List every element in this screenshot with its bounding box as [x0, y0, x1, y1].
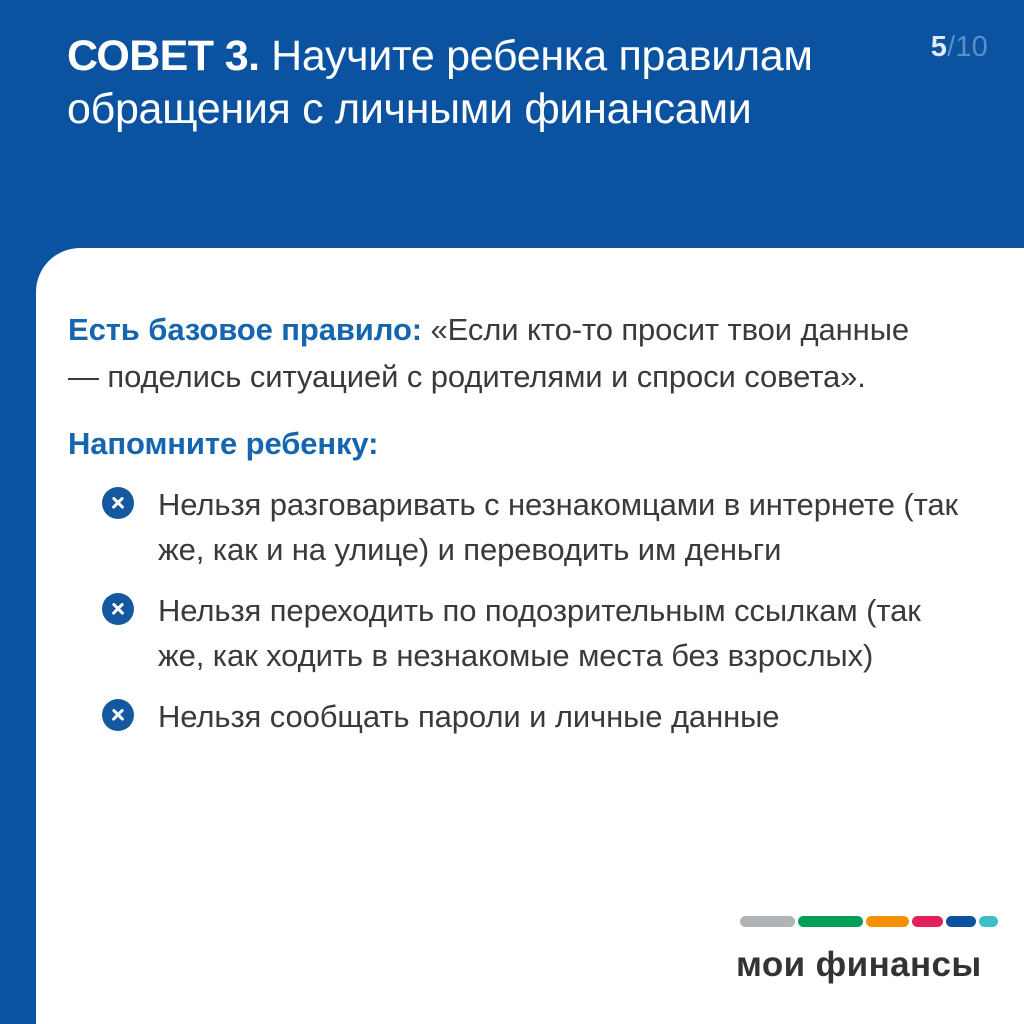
- page-title: СОВЕТ 3. Научите ребенка правилам обраще…: [67, 30, 897, 136]
- list-item-label: Нельзя переходить по подозрительным ссыл…: [158, 588, 968, 678]
- lead-paragraph: Есть базовое правило: «Если кто-то проси…: [68, 306, 948, 400]
- close-circle-icon: [102, 487, 134, 519]
- close-circle-icon: [102, 593, 134, 625]
- brand-logo-color-bar: [736, 916, 998, 927]
- reminder-list: Нельзя разговаривать с незнакомцами в ин…: [68, 482, 972, 739]
- logo-bar-segment-6: [979, 916, 998, 927]
- logo-bar-segment-5: [946, 916, 976, 927]
- page-counter: 5/10: [931, 33, 988, 62]
- slide-header: 5/10 СОВЕТ 3. Научите ребенка правилам о…: [0, 0, 1024, 248]
- content-card: Есть базовое правило: «Если кто-то проси…: [36, 248, 1024, 1024]
- list-item: Нельзя разговаривать с незнакомцами в ин…: [68, 482, 972, 572]
- page-counter-total: /10: [947, 31, 988, 63]
- page-counter-current: 5: [931, 31, 947, 63]
- logo-bar-segment-1: [740, 916, 795, 927]
- list-item-label: Нельзя разговаривать с незнакомцами в ин…: [158, 482, 968, 572]
- slide-root: 5/10 СОВЕТ 3. Научите ребенка правилам о…: [0, 0, 1024, 1024]
- section-subheading: Напомните ребенку:: [68, 424, 972, 464]
- page-title-tip-label: СОВЕТ 3.: [67, 32, 259, 80]
- logo-bar-segment-2: [798, 916, 863, 927]
- list-item-label: Нельзя сообщать пароли и личные данные: [158, 694, 779, 739]
- logo-bar-segment-3: [866, 916, 909, 927]
- brand-logo: мои финансы: [736, 916, 998, 982]
- lead-paragraph-label: Есть базовое правило:: [68, 312, 422, 347]
- list-item: Нельзя переходить по подозрительным ссыл…: [68, 588, 972, 678]
- close-circle-icon: [102, 699, 134, 731]
- brand-logo-wordmark: мои финансы: [736, 947, 998, 982]
- list-item: Нельзя сообщать пароли и личные данные: [68, 694, 972, 739]
- logo-bar-segment-4: [912, 916, 944, 927]
